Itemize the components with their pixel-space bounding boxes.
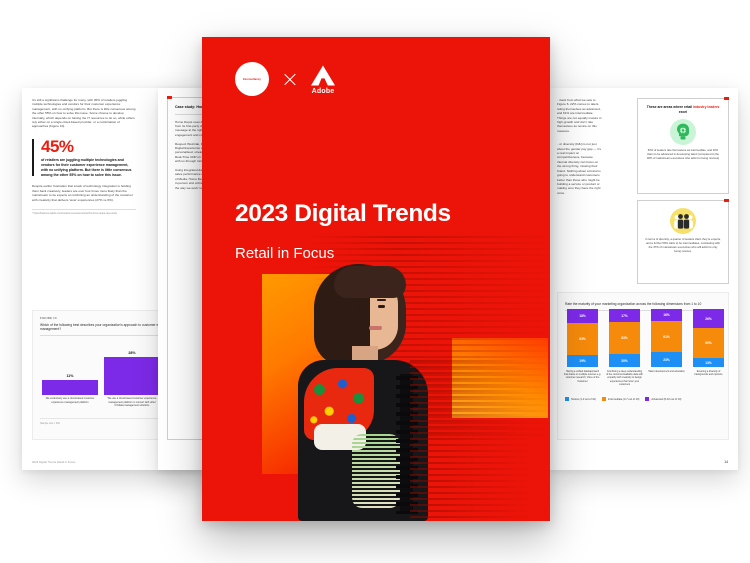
legend-item-intermediate[interactable]: Intermediate (4-7 out of 10) [602,397,639,401]
segment-intermediate-1: 63% [609,322,640,354]
stacked-bar-label-3: Ensuring a diversity of backgrounds and … [690,370,727,376]
document-preview-stage: It's still a significant challenge for m… [0,0,750,563]
right-page-number: 14 [724,460,728,464]
close-icon [282,72,297,87]
stacked-bar-group-3[interactable]: 26% 60% 13% Ensuring a diversity of back… [693,309,724,367]
stacked-bar-label-2: Talent development and education [648,370,685,373]
segment-intermediate-3: 60% [693,328,724,358]
callout-1-title-highlight: industry leaders [693,105,719,109]
legend-item-novice[interactable]: Novice (1-3 out of 10) [565,397,596,401]
pullquote-text: of retailers are juggling multiple techn… [41,158,136,178]
stacked-bar-group-0[interactable]: 18% 63% 19% Having a unified data/approa… [567,309,598,367]
stacked-bar-chart: 18% 63% 19% Having a unified data/approa… [565,315,721,393]
report-cover[interactable]: Econsultancy Adobe 2023 Digital Trends R… [202,37,550,521]
bar-label-1: We use a cloud-based customer experience… [104,397,160,407]
cover-model-photo [290,256,460,521]
econsultancy-logo-text: Econsultancy [243,78,261,81]
bar-value-0: 11% [42,374,98,378]
segment-intermediate-0: 63% [567,323,598,355]
bar-rect-0 [42,380,98,395]
adobe-logo: Adobe [310,64,336,95]
bar-group-0[interactable]: 11% We exclusively use a cloud-based cus… [42,374,98,395]
left-page-column: It's still a significant challenge for m… [32,98,136,216]
cover-artwork [202,216,550,521]
head-with-gear-icon [670,119,696,145]
left-body-after: Despite earlier frustration that a lack … [32,184,136,202]
report-page-right[interactable]: ...back from what we saw to Figure 6. 22… [548,88,738,470]
left-intro-paragraph: It's still a significant challenge for m… [32,98,136,129]
segment-advanced-1: 17% [609,309,640,322]
right-body-bottom: ...in diversity (D&I) is not just about … [557,142,603,195]
legend-label-intermediate: Intermediate (4-7 out of 10) [608,398,639,401]
callout-1-body: 52% of leaders rate themselves as interm… [645,149,721,161]
pullquote: 45% of retailers are juggling multiple t… [32,138,136,178]
callout-1-title: These are areas where retail industry le… [645,105,721,114]
segment-advanced-2: 16% [651,309,682,321]
right-page-column: ...back from what we saw to Figure 6. 22… [557,98,603,195]
legend-swatch-novice [565,397,569,401]
callout-1-title-line1: These are areas where retail [647,105,692,109]
econsultancy-logo: Econsultancy [235,62,269,96]
stacked-chart-legend: Novice (1-3 out of 10) Intermediate (4-7… [565,397,721,401]
callout-industry-leaders: These are areas where retail industry le… [637,98,729,194]
stacked-bar-group-2[interactable]: 16% 61% 23% Talent development and educa… [651,309,682,367]
right-body-top: ...back from what we saw to Figure 6. 22… [557,98,603,133]
segment-intermediate-2: 61% [651,321,682,352]
stacked-bar-group-1[interactable]: 17% 63% 20% Combining a deep understandi… [609,309,640,367]
stacked-bar-label-0: Having a unified data/approach that draw… [564,370,601,383]
bar-rect-1 [104,357,160,395]
stacked-figure-question: Rate the maturity of your marketing orga… [565,302,721,306]
legend-swatch-intermediate [602,397,606,401]
stacked-bar-label-1: Combining a deep understanding of the cu… [606,370,643,386]
legend-label-advanced: Advanced (8-10 out of 10) [651,398,681,401]
bar-label-0: We exclusively use a cloud-based custome… [42,397,98,404]
adobe-wordmark: Adobe [312,88,335,95]
segment-novice-1: 20% [609,354,640,367]
stacked-bar-figure-card: Rate the maturity of your marketing orga… [557,292,729,440]
left-footnote: * https://business.adobe.com/customer-su… [32,209,136,216]
segment-novice-2: 23% [651,352,682,367]
segment-advanced-0: 18% [567,309,598,323]
cover-logo-lockup: Econsultancy Adobe [235,62,336,96]
adobe-a-mark [310,64,336,87]
segment-novice-3: 13% [693,358,724,367]
bar-value-1: 28% [104,351,160,355]
callout-1-title-line2: excel [679,110,688,114]
legend-item-advanced[interactable]: Advanced (8-10 out of 10) [645,397,681,401]
legend-swatch-advanced [645,397,649,401]
legend-label-novice: Novice (1-3 out of 10) [571,398,596,401]
callout-diversity: In terms of diversity, a quarter of lead… [637,200,729,284]
segment-advanced-3: 26% [693,309,724,328]
segment-novice-0: 19% [567,355,598,367]
bar-group-1[interactable]: 28% We use a cloud-based customer experi… [104,351,160,395]
callout-2-body: In terms of diversity, a quarter of lead… [645,238,721,254]
group-of-people-icon [670,208,696,234]
left-page-footer: 2023 Digital Trends Retail in Focus [32,460,75,464]
pullquote-number: 45% [41,138,136,155]
